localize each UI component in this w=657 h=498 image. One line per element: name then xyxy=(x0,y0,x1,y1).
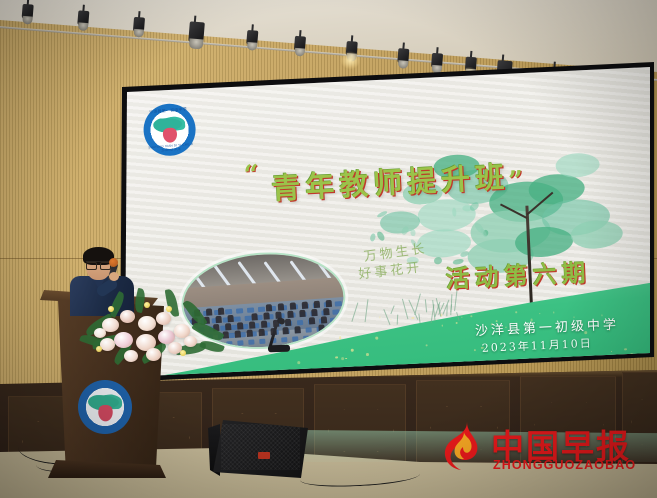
photo-attendee xyxy=(278,303,284,310)
photo-attendee xyxy=(299,310,305,317)
bouquet-flower xyxy=(120,310,135,323)
stage-spotlight-icon xyxy=(131,17,146,40)
photo-attendee xyxy=(227,315,233,322)
photo-attendee xyxy=(285,319,291,326)
photo-attendee xyxy=(235,330,241,337)
photo-attendee xyxy=(251,313,257,320)
photo-chair xyxy=(303,336,309,341)
photo-chair xyxy=(332,309,339,314)
grass-blade xyxy=(425,299,427,312)
school-emblem: 沙洋县第一初级中学 SHAYANG XIAN DI YI CHU JI ZHON… xyxy=(142,102,198,158)
photo-chair xyxy=(247,307,254,312)
floating-leaf xyxy=(375,230,385,242)
photo-chair xyxy=(314,335,320,340)
bouquet-accent-flower xyxy=(180,350,186,356)
bouquet-flower xyxy=(184,336,197,347)
bouquet-flower xyxy=(146,348,161,361)
handheld-mic-head-icon xyxy=(109,258,118,267)
grass-blade xyxy=(414,293,421,314)
watermark-pinyin-text: ZHONGGUOZAOBAO xyxy=(493,458,636,472)
photo-chair xyxy=(234,316,241,321)
photo-chair xyxy=(292,336,298,341)
photo-chair xyxy=(236,308,243,313)
photo-attendee xyxy=(246,330,252,337)
stage-spotlight-icon xyxy=(396,48,411,71)
photo-chair xyxy=(297,320,304,325)
grass-sparkle xyxy=(611,350,612,351)
grass-blade xyxy=(391,305,395,314)
grass-blade xyxy=(365,300,369,323)
photo-attendee xyxy=(302,302,308,309)
grass-sparkle xyxy=(624,348,626,350)
quote-open-mark: “ xyxy=(243,160,259,191)
floating-leaf xyxy=(410,229,416,236)
photo-attendee xyxy=(321,316,327,323)
grass-blade xyxy=(418,314,420,324)
photo-attendee xyxy=(237,322,243,329)
photo-attendee xyxy=(261,320,267,327)
photo-attendee xyxy=(314,301,320,308)
floating-leaf xyxy=(369,233,376,242)
photo-attendee xyxy=(318,324,324,331)
grass-blade xyxy=(402,299,409,320)
grass-sparkle xyxy=(379,317,381,319)
photo-chair xyxy=(226,341,232,346)
photo-attendee xyxy=(287,311,293,318)
stage-spotlight-icon xyxy=(344,41,359,64)
quote-close-mark: ” xyxy=(508,166,524,197)
grass-blade xyxy=(450,294,452,315)
bouquet-flower xyxy=(124,350,138,362)
stage-spotlight-icon xyxy=(187,21,207,52)
grass-blade xyxy=(351,303,358,322)
grass-sparkle xyxy=(515,311,517,313)
grass-sparkle xyxy=(456,322,458,324)
photo-attendee xyxy=(294,326,300,333)
photo-attendee xyxy=(290,302,296,309)
foliage-blob xyxy=(570,219,623,249)
photo-chair xyxy=(327,326,333,331)
flower-bouquet xyxy=(80,292,220,372)
photo-attendee xyxy=(258,329,264,336)
emblem-red-mark xyxy=(161,127,178,144)
podium-emblem-red-mark xyxy=(97,405,114,423)
bouquet-flower xyxy=(156,312,171,325)
photo-attendee xyxy=(323,308,329,315)
bouquet-flower xyxy=(138,316,156,331)
photo-attendee xyxy=(309,317,315,324)
grass-blade xyxy=(396,315,398,325)
photo-attendee xyxy=(263,312,269,319)
stage-spotlight-icon xyxy=(20,4,35,27)
stage-spotlight-icon xyxy=(292,36,307,59)
grass-sparkle xyxy=(391,319,392,320)
photo-attendee xyxy=(282,327,288,334)
photo-attendee xyxy=(266,304,272,311)
speaker-brand-logo xyxy=(258,452,270,459)
presentation-subtitle: 活动第六期 xyxy=(445,253,591,295)
grass-sparkle xyxy=(341,357,344,360)
bouquet-flower xyxy=(114,332,133,348)
zhongguozaobao-watermark: 中国早报 ZHONGGUOZAOBAO xyxy=(437,418,652,480)
stage-monitor-speaker xyxy=(213,420,308,478)
flame-logo-icon xyxy=(437,420,485,472)
stage-spotlight-icon xyxy=(76,10,91,33)
bouquet-accent-flower xyxy=(108,306,114,312)
photo-chair xyxy=(248,339,254,344)
grass-sparkle xyxy=(474,349,476,351)
eyeglasses-icon xyxy=(86,261,111,267)
bouquet-flower xyxy=(100,338,115,351)
auditorium-scene: 沙洋县第一初级中学 SHAYANG XIAN DI YI CHU JI ZHON… xyxy=(0,0,657,498)
photo-chair xyxy=(335,301,342,306)
bouquet-accent-flower xyxy=(166,306,172,312)
photo-attendee xyxy=(249,321,255,328)
foliage-blob xyxy=(555,152,600,178)
photo-chair xyxy=(237,340,243,345)
photo-chair xyxy=(325,334,331,339)
photo-chair xyxy=(258,307,265,312)
emblem-ring-bottom-text: SHAYANG XIAN DI YI CHU JI ZHONG XUE xyxy=(145,142,197,154)
bouquet-accent-flower xyxy=(144,302,150,308)
photo-chair xyxy=(225,309,232,314)
school-emblem-podium xyxy=(78,380,132,434)
bouquet-leaf xyxy=(133,288,147,313)
photo-chair xyxy=(330,318,337,323)
grass-sparkle xyxy=(412,317,415,320)
stage-spotlight-icon xyxy=(245,30,260,53)
grass-sparkle xyxy=(376,337,379,340)
presenter-hand xyxy=(109,272,119,281)
photo-chair xyxy=(244,316,251,321)
grass-sparkle xyxy=(366,353,369,356)
floating-leaf xyxy=(451,207,456,216)
grass-blade xyxy=(383,309,390,326)
speaker-grille xyxy=(221,424,300,470)
photo-chair xyxy=(305,327,311,332)
gooseneck-mic-base xyxy=(268,345,290,353)
photo-attendee xyxy=(225,323,231,330)
emblem-ring-top-text: 沙洋县第一初级中学 xyxy=(142,106,194,116)
photo-attendee xyxy=(326,300,332,307)
photo-chair xyxy=(281,337,287,342)
photo-attendee xyxy=(311,309,317,316)
bouquet-accent-flower xyxy=(96,346,102,352)
photo-chair xyxy=(259,339,265,344)
grass-blade xyxy=(447,305,448,317)
